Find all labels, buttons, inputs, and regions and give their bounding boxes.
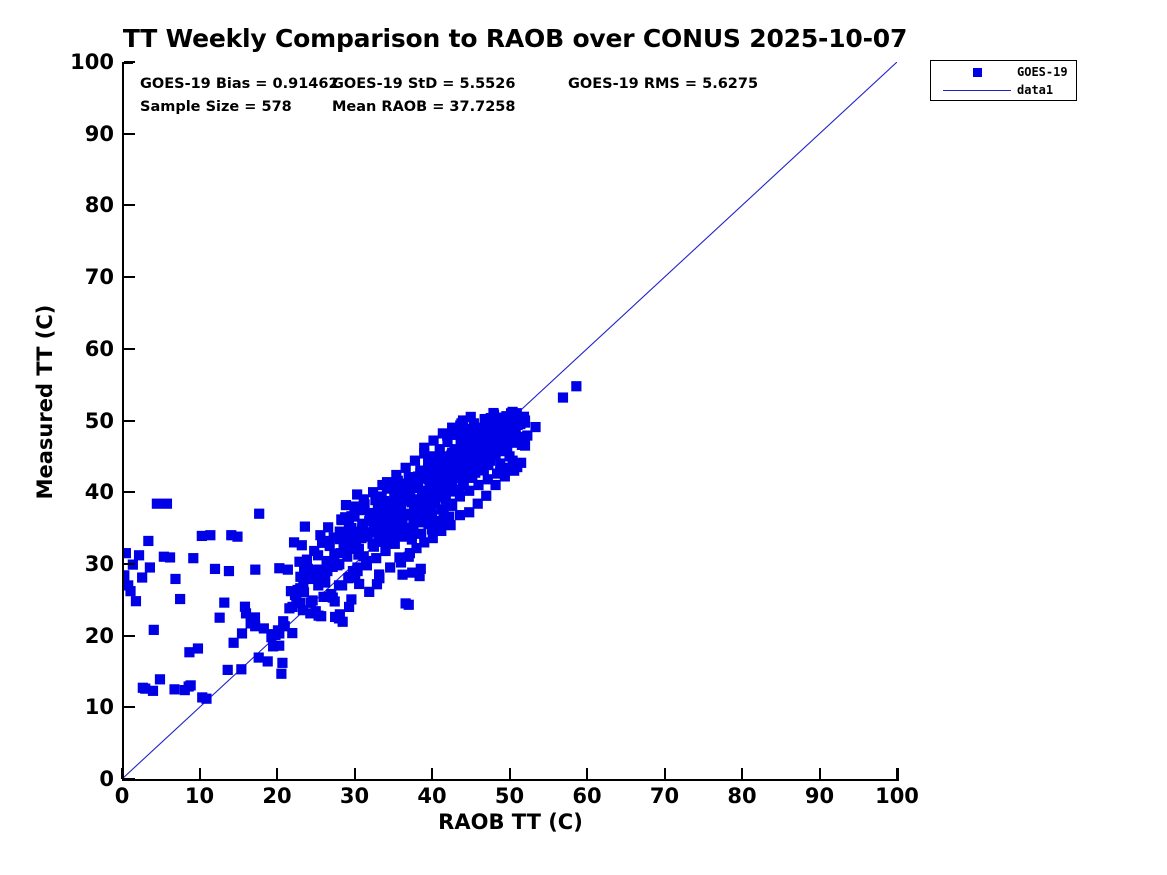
- scatter-point: [396, 531, 406, 541]
- x-tick-label-20: 20: [262, 784, 291, 808]
- scatter-point: [454, 485, 464, 495]
- scatter-point: [479, 465, 489, 475]
- scatter-point: [483, 474, 493, 484]
- scatter-point: [352, 562, 362, 572]
- scatter-point: [412, 513, 422, 523]
- scatter-point: [313, 570, 323, 580]
- x-tick-label-80: 80: [727, 784, 756, 808]
- scatter-point: [466, 412, 476, 422]
- scatter-point: [393, 476, 403, 486]
- line-marker-icon: [943, 90, 1011, 91]
- scatter-point: [473, 480, 483, 490]
- annotation-mean-raob: Mean RAOB = 37.7258: [332, 99, 515, 115]
- x-axis-spine: [122, 779, 899, 781]
- scatter-point: [334, 580, 344, 590]
- scatter-point: [362, 560, 372, 570]
- scatter-point: [444, 474, 454, 484]
- scatter-point: [152, 499, 162, 509]
- x-tick-label-40: 40: [417, 784, 446, 808]
- legend-label-data1: data1: [1017, 83, 1053, 97]
- scatter-point: [297, 540, 307, 550]
- scatter-point: [323, 592, 333, 602]
- chart-legend[interactable]: GOES-19 data1: [930, 60, 1077, 101]
- scatter-point: [389, 490, 399, 500]
- scatter-point: [229, 638, 239, 648]
- scatter-point: [410, 456, 420, 466]
- scatter-point: [155, 674, 165, 684]
- scatter-point: [250, 621, 260, 631]
- scatter-point: [278, 616, 288, 626]
- scatter-point: [436, 461, 446, 471]
- y-tick-label-90: 90: [85, 122, 114, 146]
- scatter-point: [215, 613, 225, 623]
- x-tick-label-60: 60: [572, 784, 601, 808]
- legend-label-goes19: GOES-19: [1017, 65, 1068, 79]
- plot-area[interactable]: [122, 62, 897, 779]
- scatter-point: [254, 509, 264, 519]
- y-axis-spine: [122, 62, 124, 781]
- scatter-point: [300, 522, 310, 532]
- scatter-point: [274, 563, 284, 573]
- scatter-point: [397, 570, 407, 580]
- scatter-point: [314, 611, 324, 621]
- y-tick-0: [124, 778, 135, 780]
- legend-entry-goes19[interactable]: GOES-19: [931, 63, 1076, 81]
- scatter-point: [299, 587, 309, 597]
- scatter-point: [276, 669, 286, 679]
- scatter-point: [223, 665, 233, 675]
- scatter-point: [456, 427, 466, 437]
- scatter-canvas: [122, 62, 897, 779]
- scatter-point: [346, 511, 356, 521]
- x-tick-0: [121, 768, 123, 779]
- scatter-point: [170, 574, 180, 584]
- annotation-sample-size: Sample Size = 578: [140, 99, 292, 115]
- scatter-point: [346, 594, 356, 604]
- scatter-point: [472, 448, 482, 458]
- scatter-point: [571, 381, 581, 391]
- scatter-point: [416, 564, 426, 574]
- scatter-point: [188, 553, 198, 563]
- scatter-point: [250, 612, 260, 622]
- x-axis-label: RAOB TT (C): [122, 810, 899, 834]
- scatter-point: [344, 526, 354, 536]
- y-tick-label-60: 60: [85, 337, 114, 361]
- scatter-point: [197, 692, 207, 702]
- y-tick-label-70: 70: [85, 265, 114, 289]
- scatter-point: [392, 501, 402, 511]
- scatter-point: [273, 625, 283, 635]
- x-tick-label-10: 10: [185, 784, 214, 808]
- y-tick-label-40: 40: [85, 480, 114, 504]
- scatter-point: [419, 443, 429, 453]
- scatter-point: [224, 566, 234, 576]
- scatter-point: [488, 408, 498, 418]
- scatter-point: [295, 572, 305, 582]
- annotation-bias: GOES-19 Bias = 0.91462: [140, 76, 339, 92]
- y-tick-label-0: 0: [99, 767, 114, 791]
- scatter-point: [405, 548, 415, 558]
- x-tick-70: [664, 768, 666, 779]
- scatter-point: [368, 487, 378, 497]
- scatter-point: [143, 536, 153, 546]
- x-tick-60: [586, 768, 588, 779]
- scatter-point: [138, 683, 148, 693]
- x-tick-10: [199, 768, 201, 779]
- scatter-point: [184, 647, 194, 657]
- scatter-point: [520, 437, 530, 447]
- scatter-point: [530, 422, 540, 432]
- x-tick-90: [819, 768, 821, 779]
- y-tick-70: [124, 276, 135, 278]
- scatter-point: [237, 628, 247, 638]
- scatter-point: [240, 602, 250, 612]
- scatter-point: [367, 508, 377, 518]
- scatter-point: [463, 453, 473, 463]
- scatter-point: [219, 598, 229, 608]
- scatter-point: [149, 625, 159, 635]
- y-tick-label-10: 10: [85, 695, 114, 719]
- scatter-point: [425, 469, 435, 479]
- x-tick-label-100: 100: [875, 784, 919, 808]
- scatter-point: [145, 562, 155, 572]
- y-tick-40: [124, 491, 135, 493]
- scatter-point: [520, 418, 530, 428]
- y-tick-100: [124, 61, 135, 63]
- scatter-point: [295, 598, 305, 608]
- y-tick-label-30: 30: [85, 552, 114, 576]
- y-tick-50: [124, 420, 135, 422]
- x-tick-30: [354, 768, 356, 779]
- scatter-point: [165, 552, 175, 562]
- scatter-point: [401, 598, 411, 608]
- scatter-point: [401, 463, 411, 473]
- scatter-point: [481, 491, 491, 501]
- scatter-point: [558, 392, 568, 402]
- scatter-point: [302, 555, 312, 565]
- x-tick-label-50: 50: [495, 784, 524, 808]
- scatter-point: [175, 594, 185, 604]
- scatter-point: [254, 652, 264, 662]
- scatter-point: [428, 435, 438, 445]
- scatter-point: [480, 429, 490, 439]
- scatter-point: [408, 526, 418, 536]
- page-title: TT Weekly Comparison to RAOB over CONUS …: [0, 24, 1030, 53]
- scatter-point: [169, 684, 179, 694]
- scatter-point: [495, 429, 505, 439]
- x-tick-40: [431, 768, 433, 779]
- scatter-point: [232, 532, 242, 542]
- scatter-point: [284, 603, 294, 613]
- x-tick-50: [509, 768, 511, 779]
- x-tick-label-0: 0: [115, 784, 130, 808]
- scatter-point: [371, 553, 381, 563]
- scatter-point: [462, 440, 472, 450]
- scatter-point: [455, 510, 465, 520]
- y-tick-label-20: 20: [85, 624, 114, 648]
- y-axis-label: Measured TT (C): [33, 142, 57, 662]
- scatter-point: [423, 519, 433, 529]
- scatter-point: [424, 457, 434, 467]
- scatter-point: [500, 444, 510, 454]
- scatter-point: [274, 641, 284, 651]
- scatter-point: [427, 510, 437, 520]
- x-tick-label-90: 90: [805, 784, 834, 808]
- scatter-point: [398, 510, 408, 520]
- scatter-point: [350, 573, 360, 583]
- scatter-point: [352, 489, 362, 499]
- scatter-point: [186, 680, 196, 690]
- scatter-point: [277, 658, 287, 668]
- scatter-point: [450, 453, 460, 463]
- scatter-point: [125, 586, 135, 596]
- scatter-point: [205, 530, 215, 540]
- scatter-point: [131, 596, 141, 606]
- scatter-point: [250, 565, 260, 575]
- y-tick-90: [124, 133, 135, 135]
- y-tick-30: [124, 563, 135, 565]
- scatter-point: [464, 486, 474, 496]
- scatter-point: [137, 572, 147, 582]
- annotation-std: GOES-19 StD = 5.5526: [332, 76, 515, 92]
- scatter-point: [236, 664, 246, 674]
- scatter-point: [359, 551, 369, 561]
- scatter-point: [338, 617, 348, 627]
- y-tick-label-50: 50: [85, 409, 114, 433]
- scatter-point: [134, 550, 144, 560]
- x-tick-100: [896, 768, 898, 779]
- y-tick-10: [124, 706, 135, 708]
- figure-canvas: TT Weekly Comparison to RAOB over CONUS …: [0, 0, 1167, 875]
- scatter-point: [510, 412, 520, 422]
- y-tick-80: [124, 204, 135, 206]
- y-tick-60: [124, 348, 135, 350]
- y-tick-label-80: 80: [85, 193, 114, 217]
- scatter-points-group: [122, 381, 581, 704]
- scatter-point: [287, 628, 297, 638]
- scatter-point: [380, 546, 390, 556]
- scatter-point: [356, 527, 366, 537]
- x-tick-80: [741, 768, 743, 779]
- annotation-rms: GOES-19 RMS = 5.6275: [568, 76, 758, 92]
- scatter-point: [372, 579, 382, 589]
- square-marker-icon: [973, 68, 982, 77]
- scatter-point: [334, 559, 344, 569]
- scatter-point: [436, 491, 446, 501]
- scatter-point: [349, 501, 359, 511]
- x-tick-label-70: 70: [650, 784, 679, 808]
- x-tick-20: [276, 768, 278, 779]
- scatter-point: [162, 499, 172, 509]
- y-tick-label-100: 100: [70, 50, 114, 74]
- legend-entry-data1[interactable]: data1: [931, 81, 1076, 99]
- scatter-point: [317, 538, 327, 548]
- scatter-point: [148, 686, 158, 696]
- scatter-point: [385, 562, 395, 572]
- scatter-point: [396, 557, 406, 567]
- scatter-point: [442, 431, 452, 441]
- scatter-point: [263, 656, 273, 666]
- x-tick-label-30: 30: [340, 784, 369, 808]
- scatter-point: [210, 564, 220, 574]
- y-tick-20: [124, 635, 135, 637]
- scatter-point: [508, 456, 518, 466]
